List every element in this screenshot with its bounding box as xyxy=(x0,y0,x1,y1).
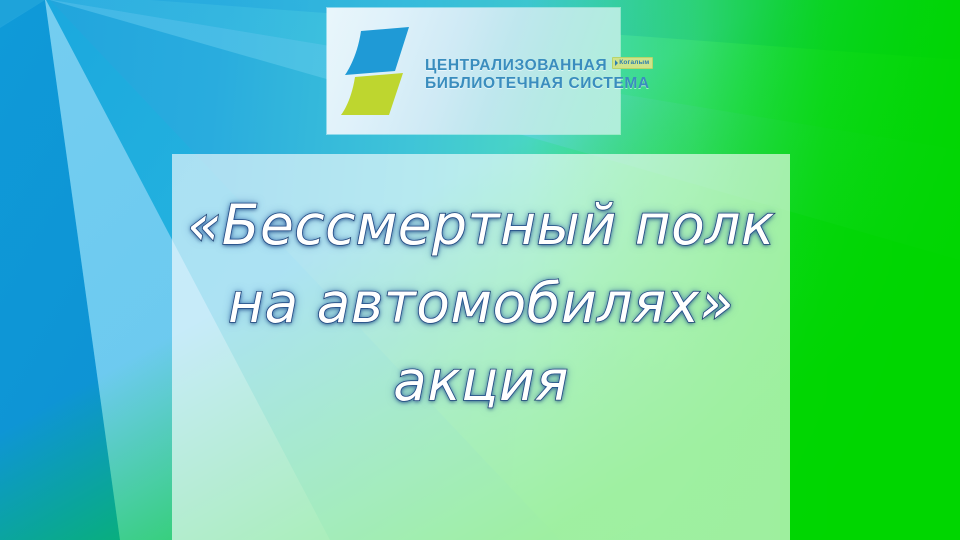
title-line-3: акция xyxy=(172,342,790,420)
slide-title: «Бессмертный полк на автомобилях» акция xyxy=(172,186,790,420)
organization-logo-image: ЦЕНТРАЛИЗОВАННАЯ Когалым БИБЛИОТЕЧНАЯ СИ… xyxy=(327,8,620,134)
logo-title-line-1: ЦЕНТРАЛИЗОВАННАЯ xyxy=(425,57,607,75)
logo-city-badge: Когалым xyxy=(612,57,653,69)
logo-title-line-2: БИБЛИОТЕЧНАЯ СИСТЕМА xyxy=(425,75,653,93)
title-line-2: на автомобилях» xyxy=(172,264,790,342)
title-line-1: «Бессмертный полк xyxy=(172,186,790,264)
library-book-mark-icon xyxy=(341,25,413,117)
presentation-slide: ЦЕНТРАЛИЗОВАННАЯ Когалым БИБЛИОТЕЧНАЯ СИ… xyxy=(0,0,960,540)
